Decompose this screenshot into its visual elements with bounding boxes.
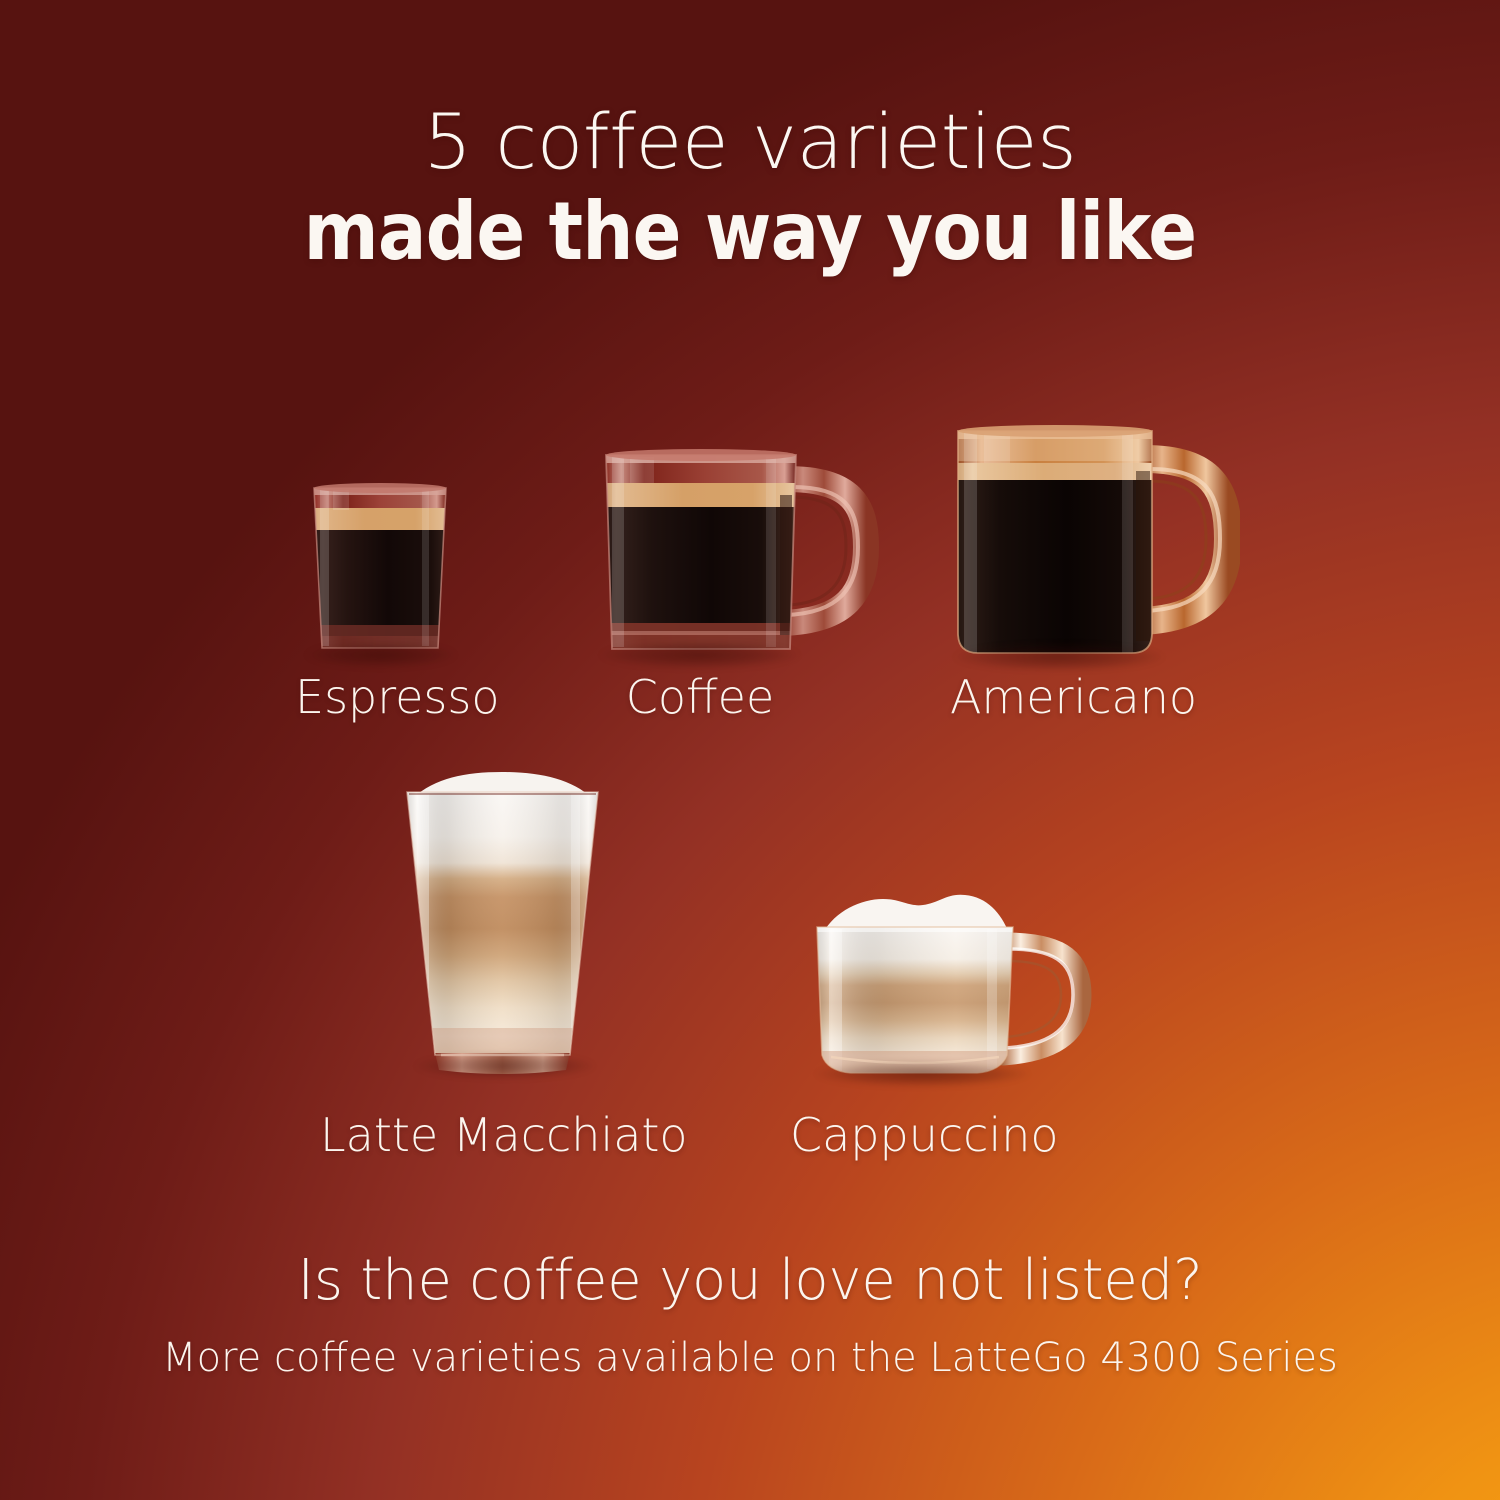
variety-label-americano: Americano bbox=[950, 670, 1190, 724]
variety-label-coffee: Coffee bbox=[600, 670, 800, 724]
americano-mug-icon bbox=[940, 415, 1240, 675]
variety-label-cappuccino: Cappuccino bbox=[790, 1108, 1050, 1162]
headline-line-1: 5 coffee varieties bbox=[0, 104, 1500, 180]
latte-macchiato-glass-icon bbox=[395, 770, 610, 1080]
coffee-mug-icon bbox=[590, 435, 880, 675]
footer-note: More coffee varieties available on the L… bbox=[0, 1335, 1500, 1381]
footer-question: Is the coffee you love not listed? bbox=[0, 1248, 1500, 1313]
variety-label-latte-macchiato: Latte Macchiato bbox=[320, 1108, 680, 1162]
headline-line-2: made the way you like bbox=[0, 192, 1500, 272]
espresso-glass-icon bbox=[300, 470, 460, 670]
footer-block: Is the coffee you love not listed? More … bbox=[0, 1248, 1500, 1381]
variety-label-espresso: Espresso bbox=[295, 670, 495, 724]
promo-banner: 5 coffee varieties made the way you like bbox=[0, 0, 1500, 1500]
page-title: 5 coffee varieties made the way you like bbox=[0, 104, 1500, 272]
cappuccino-cup-icon bbox=[805, 885, 1095, 1085]
